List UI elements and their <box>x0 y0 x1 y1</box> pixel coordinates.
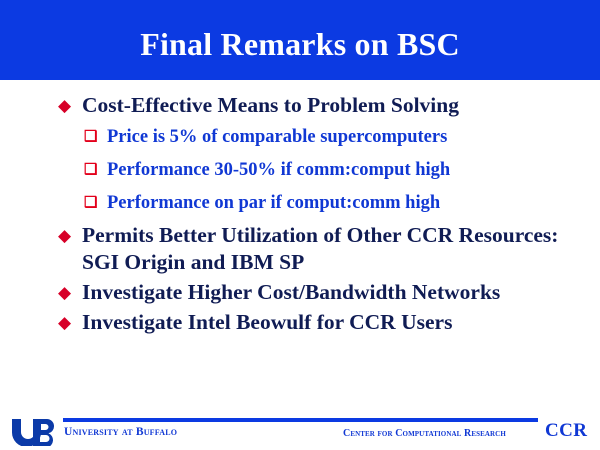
ub-logo <box>10 416 62 446</box>
bullet-level1: ◆ Investigate Intel Beowulf for CCR User… <box>0 309 600 336</box>
slide-body: ◆ Cost-Effective Means to Problem Solvin… <box>0 92 600 339</box>
bullet-level1: ◆ Cost-Effective Means to Problem Solvin… <box>0 92 600 119</box>
page-title: Final Remarks on BSC <box>0 0 600 80</box>
hollow-square-bullet-icon: ❑ <box>84 155 97 185</box>
sub-bullet-group: ❑ Price is 5% of comparable supercompute… <box>0 122 600 218</box>
bullet-level1-text: Investigate Higher Cost/Bandwidth Networ… <box>82 280 500 304</box>
bullet-level2: ❑ Performance 30-50% if comm:comput high <box>0 155 600 185</box>
diamond-bullet-icon: ◆ <box>58 279 71 306</box>
footer-center-label: Center for Computational Research <box>343 428 506 439</box>
bullet-level1-text: Permits Better Utilization of Other CCR … <box>82 223 558 274</box>
diamond-bullet-icon: ◆ <box>58 222 71 249</box>
hollow-square-bullet-icon: ❑ <box>84 122 97 152</box>
bullet-level2: ❑ Price is 5% of comparable supercompute… <box>0 122 600 152</box>
bullet-level1-text: Cost-Effective Means to Problem Solving <box>82 93 459 117</box>
bullet-level2: ❑ Performance on par if comput:comm high <box>0 188 600 218</box>
diamond-bullet-icon: ◆ <box>58 92 71 119</box>
diamond-bullet-icon: ◆ <box>58 309 71 336</box>
bullet-level2-text: Performance on par if comput:comm high <box>107 193 440 213</box>
footer-divider <box>63 418 538 422</box>
slide-footer: University at Buffalo Center for Computa… <box>0 408 600 450</box>
footer-ccr-label: CCR <box>545 420 587 442</box>
bullet-level2-text: Price is 5% of comparable supercomputers <box>107 127 447 147</box>
bullet-level1-text: Investigate Intel Beowulf for CCR Users <box>82 310 452 334</box>
footer-university-label: University at Buffalo <box>64 426 177 438</box>
hollow-square-bullet-icon: ❑ <box>84 188 97 218</box>
bullet-level1: ◆ Permits Better Utilization of Other CC… <box>0 222 600 276</box>
bullet-level1: ◆ Investigate Higher Cost/Bandwidth Netw… <box>0 279 600 306</box>
bullet-level2-text: Performance 30-50% if comm:comput high <box>107 160 450 180</box>
